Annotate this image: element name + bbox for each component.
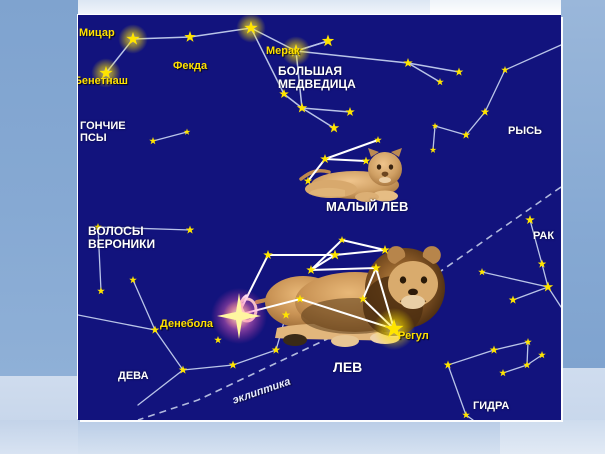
decor-corner-bottom-right	[500, 420, 605, 454]
decor-band-right-middle	[561, 228, 605, 368]
constellation-lines-lynx	[433, 45, 561, 150]
constellation-lines-ursa-major	[106, 28, 459, 128]
constellation-lines-hydra	[448, 342, 542, 420]
ecliptic-line	[138, 187, 561, 420]
decor-band-right-top	[561, 0, 605, 228]
star-map-canvas	[78, 15, 561, 420]
constellation-lines-canes-venatici	[153, 132, 187, 141]
constellation-lines-virgo	[78, 280, 286, 405]
constellation-lines-coma-berenices	[98, 227, 190, 291]
constellation-lines-cancer	[482, 220, 561, 307]
star-map-image: БОЛЬШАЯ МЕДВЕДИЦАГОНЧИЕ ПСЫРЫСЬМАЛЫЙ ЛЕВ…	[78, 15, 561, 420]
decor-band-top-right	[430, 0, 561, 15]
decor-band-left-top	[0, 0, 78, 376]
decor-band-right-bottom	[561, 368, 605, 424]
slide: БОЛЬШАЯ МЕДВЕДИЦАГОНЧИЕ ПСЫРЫСЬМАЛЫЙ ЛЕВ…	[0, 0, 605, 454]
